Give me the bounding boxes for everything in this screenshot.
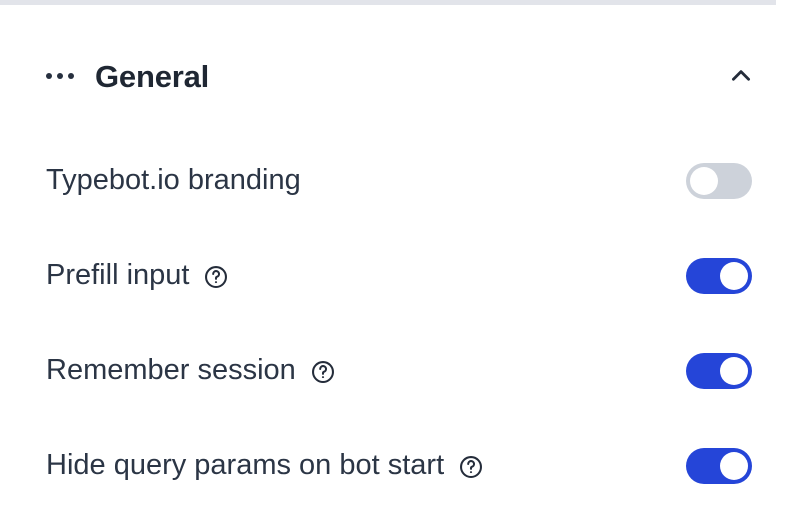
setting-label-wrap: Prefill input — [46, 260, 686, 292]
setting-label-wrap: Remember session — [46, 355, 686, 387]
toggle-hide-query-params[interactable] — [686, 448, 752, 484]
sidebar-item-label: Hide query params on bot start — [46, 450, 444, 482]
settings-list: Typebot.io branding Prefill input — [0, 133, 798, 513]
general-settings-panel: General Typebot.io branding Prefill inpu… — [0, 5, 798, 524]
collapse-section-button[interactable] — [724, 59, 758, 93]
setting-label-wrap: Typebot.io branding — [46, 165, 686, 197]
question-mark-circle-icon[interactable] — [310, 359, 336, 385]
sidebar-item-label: Remember session — [46, 355, 296, 387]
question-mark-circle-icon[interactable] — [458, 454, 484, 480]
question-mark-circle-icon[interactable] — [203, 264, 229, 290]
setting-row: Hide query params on bot start — [0, 418, 798, 513]
toggle-knob — [720, 357, 748, 385]
setting-label-wrap: Hide query params on bot start — [46, 450, 686, 482]
sidebar-item-label: Typebot.io branding — [46, 165, 301, 197]
setting-row: Remember session — [0, 323, 798, 418]
drag-dots-icon[interactable] — [46, 73, 74, 79]
toggle-remember-session[interactable] — [686, 353, 752, 389]
toggle-prefill-input[interactable] — [686, 258, 752, 294]
chevron-up-icon — [728, 63, 754, 89]
toggle-knob — [690, 167, 718, 195]
sidebar-item-label: Prefill input — [46, 260, 189, 292]
toggle-knob — [720, 452, 748, 480]
page-title: General — [95, 61, 209, 92]
toggle-typebot-branding[interactable] — [686, 163, 752, 199]
setting-row: Typebot.io branding — [0, 133, 798, 228]
toggle-knob — [720, 262, 748, 290]
setting-row: Prefill input — [0, 228, 798, 323]
general-section-header[interactable]: General — [0, 45, 798, 107]
